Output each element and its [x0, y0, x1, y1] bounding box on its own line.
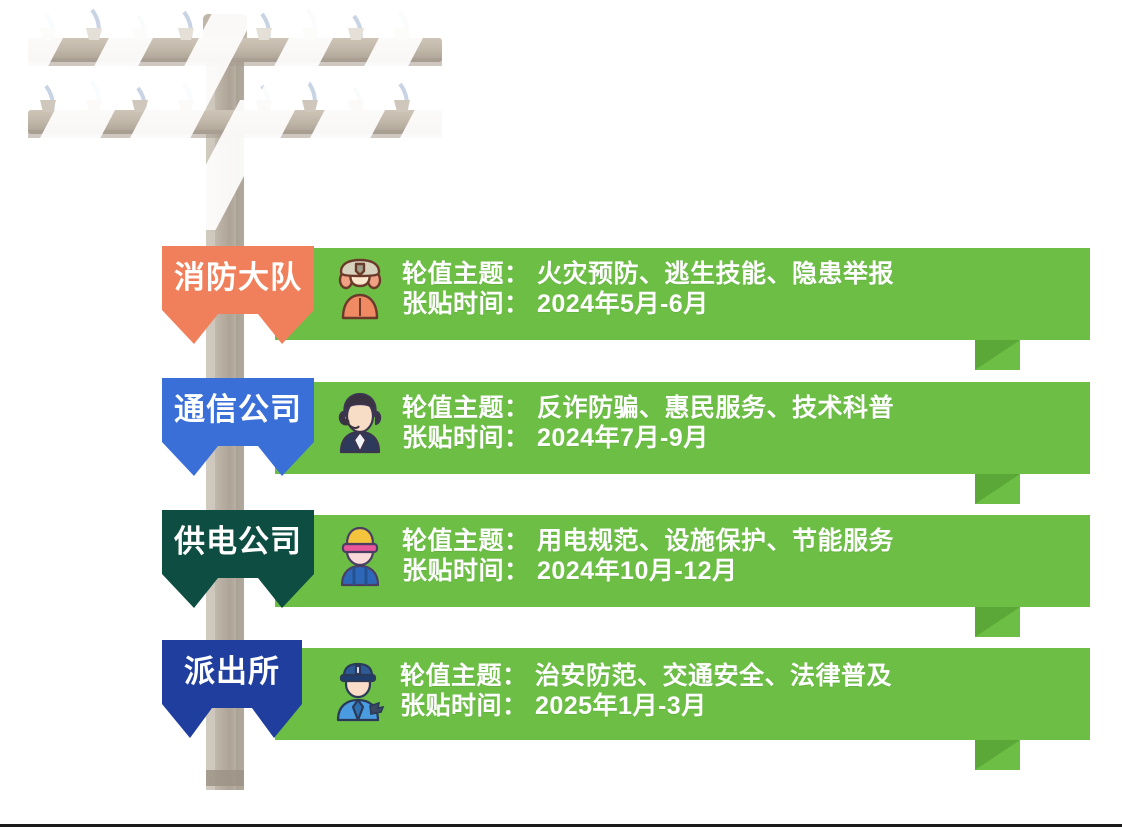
tag-label-telecom-company: 通信公司	[162, 394, 314, 425]
police-officer-icon	[330, 660, 386, 722]
row-content-power-supply-company: 轮值主题： 用电规范、设施保护、节能服务 张贴时间： 2024年10月-12月	[332, 525, 894, 587]
theme-line: 轮值主题： 用电规范、设施保护、节能服务	[402, 526, 894, 557]
tag-power-supply-company[interactable]: 供电公司	[162, 510, 314, 608]
telecom-operator-icon	[332, 392, 388, 454]
date-line: 张贴时间： 2024年7月-9月	[402, 423, 894, 454]
row-text-fire-brigade: 轮值主题： 火灾预防、逃生技能、隐患举报 张贴时间： 2024年5月-6月	[402, 259, 894, 320]
row-text-power-supply-company: 轮值主题： 用电规范、设施保护、节能服务 张贴时间： 2024年10月-12月	[402, 526, 894, 587]
date-line: 张贴时间： 2024年5月-6月	[402, 289, 894, 320]
row-text-telecom-company: 轮值主题： 反诈防骗、惠民服务、技术科普 张贴时间： 2024年7月-9月	[402, 393, 894, 454]
tag-label-power-supply-company: 供电公司	[162, 526, 314, 557]
tag-fire-brigade[interactable]: 消防大队	[162, 246, 314, 344]
tag-label-fire-brigade: 消防大队	[162, 262, 314, 293]
tag-telecom-company[interactable]: 通信公司	[162, 378, 314, 476]
row-content-telecom-company: 轮值主题： 反诈防骗、惠民服务、技术科普 张贴时间： 2024年7月-9月	[332, 392, 894, 454]
theme-line: 轮值主题： 火灾预防、逃生技能、隐患举报	[402, 259, 894, 290]
infographic-canvas: 轮值主题： 火灾预防、逃生技能、隐患举报 张贴时间： 2024年5月-6月 消防…	[0, 0, 1122, 827]
date-line: 张贴时间： 2024年10月-12月	[402, 556, 894, 587]
row-text-police-station: 轮值主题： 治安防范、交通安全、法律普及 张贴时间： 2025年1月-3月	[400, 661, 892, 722]
tag-police-station[interactable]: 派出所	[162, 640, 302, 738]
theme-line: 轮值主题： 治安防范、交通安全、法律普及	[400, 661, 892, 692]
firefighter-icon	[332, 258, 388, 320]
theme-line: 轮值主题： 反诈防骗、惠民服务、技术科普	[402, 393, 894, 424]
electrician-icon	[332, 525, 388, 587]
tag-label-police-station: 派出所	[162, 656, 302, 687]
row-content-police-station: 轮值主题： 治安防范、交通安全、法律普及 张贴时间： 2025年1月-3月	[330, 660, 892, 722]
row-content-fire-brigade: 轮值主题： 火灾预防、逃生技能、隐患举报 张贴时间： 2024年5月-6月	[332, 258, 894, 320]
date-line: 张贴时间： 2025年1月-3月	[400, 691, 892, 722]
